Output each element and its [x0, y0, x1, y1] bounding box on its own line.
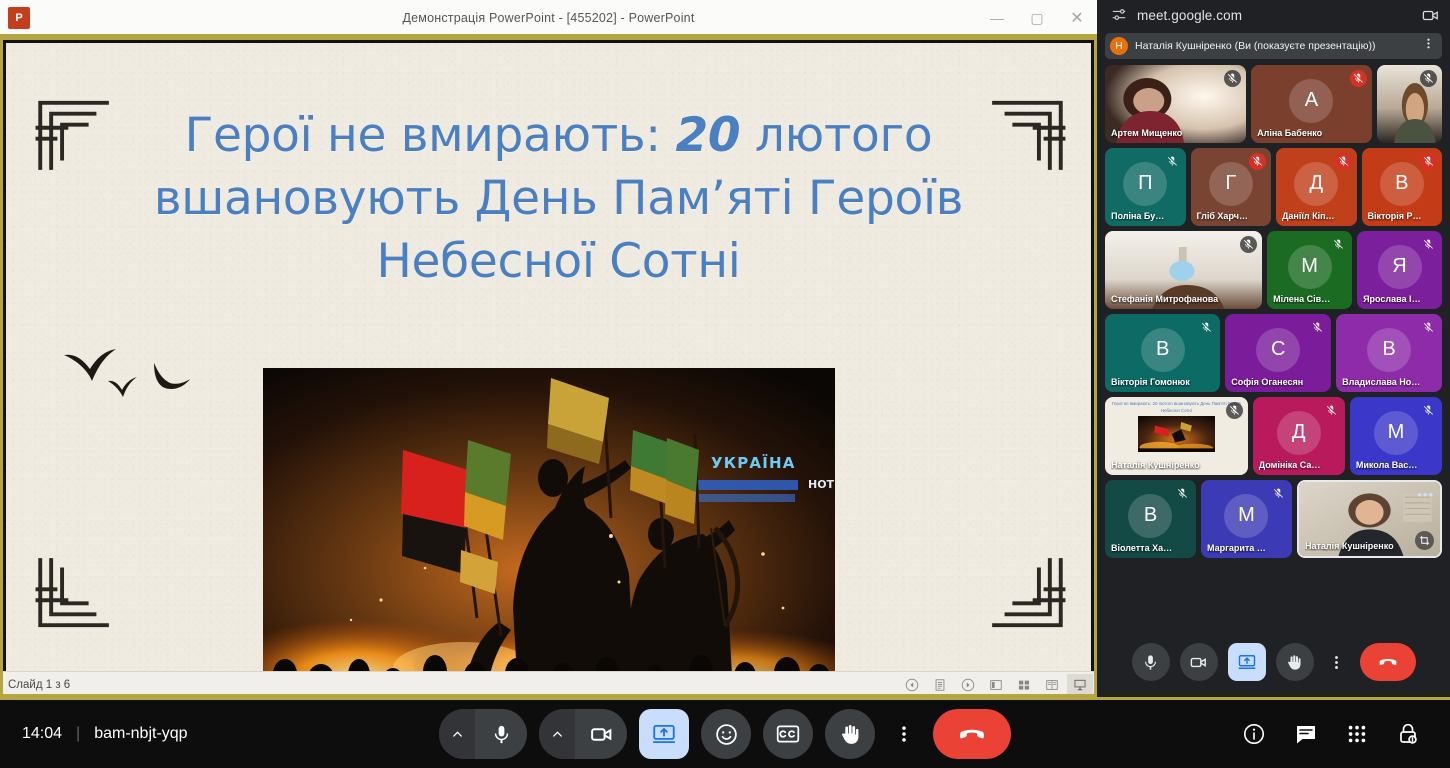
- presenter-status-row[interactable]: Н Наталія Кушніренко (Ви (показуєте през…: [1105, 33, 1442, 59]
- avatar: М: [1288, 245, 1332, 289]
- avatar: В: [1141, 328, 1185, 372]
- microphone-button[interactable]: [475, 709, 527, 759]
- clock: 14:04: [22, 725, 62, 743]
- participant-tile[interactable]: ВВікторія Р…: [1362, 148, 1443, 226]
- mic-off-icon: [1249, 153, 1266, 170]
- avatar: М: [1374, 411, 1418, 455]
- thumbnail-title: Герої не вмирають: 20 лютого вшановують …: [1110, 401, 1243, 414]
- slide-title-accent: 20: [675, 108, 740, 163]
- mic-off-icon: [1420, 70, 1437, 87]
- participant-tile[interactable]: ММілена Сівк…: [1267, 231, 1352, 309]
- meeting-details-button[interactable]: [1242, 722, 1266, 746]
- participant-name: Даніїл Кіп…: [1282, 211, 1337, 221]
- mic-off-icon: [1164, 153, 1181, 170]
- more-options-button[interactable]: [887, 709, 921, 759]
- participant-name: Гліб Харче…: [1197, 211, 1252, 221]
- slide-photo-maidan: УКРАЇНА HOTE: [263, 368, 835, 671]
- participant-tile[interactable]: ССофія Оганесян: [1225, 314, 1331, 392]
- slide-title-part2: вшановують День Пам’яті Героїв: [154, 171, 963, 226]
- slide-title-part1: Герої не вмирають:: [185, 108, 676, 163]
- participant-name: Домініка Савч…: [1259, 460, 1325, 470]
- powerpoint-logo-icon: P: [8, 7, 30, 29]
- meeting-info: 14:04 | bam-nbjt-yqp: [0, 725, 188, 743]
- participant-tile[interactable]: ММикола Васил…: [1350, 397, 1442, 475]
- avatar: А: [1289, 79, 1333, 123]
- mic-off-icon: [1335, 153, 1352, 170]
- close-button[interactable]: ✕: [1057, 0, 1097, 36]
- tile-row: Герої не вмирають: 20 лютого вшановують …: [1105, 397, 1442, 475]
- maximize-button[interactable]: ▢: [1017, 0, 1057, 36]
- participant-tile[interactable]: [1377, 65, 1442, 143]
- avatar: В: [1380, 162, 1424, 206]
- camera-button[interactable]: [575, 709, 627, 759]
- participant-tile[interactable]: Стефанія Митрофанова: [1105, 231, 1262, 309]
- avatar: Я: [1378, 245, 1422, 289]
- mic-off-icon: [1420, 319, 1437, 336]
- tile-row: Артем МищенкоААліна Бабенко: [1105, 65, 1442, 143]
- corner-ornament-icon: [34, 555, 112, 633]
- avatar: Д: [1277, 411, 1321, 455]
- mic-off-icon: [1174, 485, 1191, 502]
- previous-slide-button[interactable]: [899, 674, 925, 696]
- avatar: Д: [1294, 162, 1338, 206]
- participant-name: Вікторія Гомонюк: [1111, 377, 1200, 387]
- microphone-button[interactable]: [1132, 643, 1170, 681]
- microphone-options-chevron-icon[interactable]: [439, 709, 475, 759]
- slide-counter: Слайд 1 з 6: [8, 679, 70, 691]
- participant-tiles: Артем МищенкоААліна БабенкоППоліна Буг…Г…: [1097, 65, 1450, 558]
- tile-options-icon[interactable]: •••: [1417, 488, 1434, 501]
- slide-canvas: Герої не вмирають: 20 лютого вшановують …: [6, 43, 1091, 671]
- participant-tile[interactable]: ВВладислава Нові…: [1336, 314, 1442, 392]
- chat-button[interactable]: [1294, 722, 1318, 746]
- thumbnail-photo: [1138, 416, 1215, 452]
- normal-view-button[interactable]: [983, 674, 1009, 696]
- participant-name: Віолетта Ха…: [1111, 543, 1176, 553]
- corner-ornament-icon: [34, 95, 112, 173]
- participant-tile[interactable]: ГГліб Харче…: [1191, 148, 1272, 226]
- mic-off-icon: [1240, 236, 1257, 253]
- participant-tile[interactable]: ППоліна Буг…: [1105, 148, 1186, 226]
- participant-tile[interactable]: ДДаніїл Кіп…: [1276, 148, 1357, 226]
- corner-ornament-icon: [989, 555, 1067, 633]
- google-meet-panel: meet.google.com Н Наталія Кушніренко (Ви…: [1097, 0, 1450, 697]
- participant-tile[interactable]: ВВікторія Гомонюк: [1105, 314, 1220, 392]
- end-call-button[interactable]: [933, 709, 1011, 759]
- participant-tile[interactable]: Герої не вмирають: 20 лютого вшановують …: [1105, 397, 1248, 475]
- mic-off-icon: [1226, 402, 1243, 419]
- participant-tile[interactable]: ММаргарита …: [1201, 480, 1292, 558]
- participant-name: Софія Оганесян: [1231, 377, 1311, 387]
- participant-tile[interactable]: Артем Мищенко: [1105, 65, 1246, 143]
- slide-show-area[interactable]: Герої не вмирають: 20 лютого вшановують …: [0, 37, 1097, 671]
- reading-view-button[interactable]: [1039, 674, 1065, 696]
- participant-name: Артем Мищенко: [1111, 128, 1226, 138]
- slideshow-view-button[interactable]: [1067, 674, 1093, 696]
- avatar: Н: [1110, 37, 1128, 55]
- participant-tile[interactable]: ЯЯрослава Ів…: [1357, 231, 1442, 309]
- tile-row: ВВіолетта Ха…ММаргарита …•••Наталія Кушн…: [1105, 480, 1442, 558]
- mic-off-icon: [1420, 153, 1437, 170]
- tune-icon: [1111, 7, 1127, 23]
- meet-bottom-bar: 14:04 | bam-nbjt-yqp: [0, 697, 1450, 768]
- tile-row: ВВікторія ГомонюкССофія ОганесянВВладисл…: [1105, 314, 1442, 392]
- notes-button[interactable]: [927, 674, 953, 696]
- mic-off-icon: [1323, 402, 1340, 419]
- avatar: Г: [1209, 162, 1253, 206]
- svg-text:HOTE: HOTE: [808, 478, 835, 491]
- activities-button[interactable]: [1346, 723, 1368, 745]
- window-title: Демонстрація PowerPoint - [455202] - Pow…: [0, 11, 1097, 25]
- slide-title: Герої не вмирають: 20 лютого вшановують …: [116, 105, 1001, 294]
- end-call-button[interactable]: [1360, 643, 1416, 681]
- avatar: С: [1256, 328, 1300, 372]
- microphone-control-group[interactable]: [439, 709, 527, 759]
- svg-text:УКРАЇНА: УКРАЇНА: [711, 453, 796, 472]
- mic-off-icon: [1270, 485, 1287, 502]
- avatar: В: [1367, 328, 1411, 372]
- avatar: П: [1123, 162, 1167, 206]
- meeting-code[interactable]: bam-nbjt-yqp: [94, 725, 187, 743]
- meet-url-bar: meet.google.com: [1097, 0, 1450, 30]
- participant-name: Наталія Кушніренко: [1305, 541, 1420, 551]
- status-bar-buttons: [899, 674, 1093, 696]
- participant-name: Поліна Буг…: [1111, 211, 1166, 221]
- participant-name: Наталія Кушніренко: [1111, 460, 1228, 470]
- host-controls-button[interactable]: [1396, 722, 1420, 746]
- participant-tile[interactable]: ДДомініка Савч…: [1253, 397, 1345, 475]
- captions-button[interactable]: [763, 709, 813, 759]
- participant-name: Микола Васил…: [1356, 460, 1422, 470]
- next-slide-button[interactable]: [955, 674, 981, 696]
- mic-off-icon: [1330, 236, 1347, 253]
- emoji-button[interactable]: [701, 709, 751, 759]
- meet-right-controls: [1242, 722, 1450, 746]
- participant-name: Маргарита …: [1207, 543, 1272, 553]
- slide-title-part1-end: лютого: [740, 108, 932, 163]
- camera-options-chevron-icon[interactable]: [539, 709, 575, 759]
- raise-hand-button[interactable]: [1276, 643, 1314, 681]
- tile-row: ППоліна Буг…ГГліб Харче…ДДаніїл Кіп…ВВік…: [1105, 148, 1442, 226]
- participant-name: Владислава Нові…: [1342, 377, 1422, 387]
- camera-button[interactable]: [1180, 643, 1218, 681]
- participant-tile[interactable]: ВВіолетта Ха…: [1105, 480, 1196, 558]
- participant-name: Стефанія Митрофанова: [1111, 294, 1242, 304]
- slide-sorter-button[interactable]: [1011, 674, 1037, 696]
- presenter-label: Наталія Кушніренко (Ви (показуєте презен…: [1135, 40, 1375, 52]
- meet-panel-controls: [1097, 627, 1450, 697]
- meet-url-text[interactable]: meet.google.com: [1137, 8, 1242, 23]
- mic-off-icon: [1309, 319, 1326, 336]
- slide-title-part3: Небесної Сотні: [376, 234, 740, 289]
- camera-icon[interactable]: [1421, 6, 1440, 25]
- separator: |: [76, 725, 80, 743]
- powerpoint-window: P Демонстрація PowerPoint - [455202] - P…: [0, 0, 1097, 697]
- powerpoint-titlebar: P Демонстрація PowerPoint - [455202] - P…: [0, 0, 1097, 37]
- mic-off-icon: [1420, 402, 1437, 419]
- tile-row: Стефанія МитрофановаММілена Сівк…ЯЯросла…: [1105, 231, 1442, 309]
- minimize-button[interactable]: —: [977, 0, 1017, 36]
- meet-main-controls: [439, 709, 1011, 759]
- avatar: М: [1224, 494, 1268, 538]
- mic-off-icon: [1420, 236, 1437, 253]
- present-button[interactable]: [639, 709, 689, 759]
- participant-name: Аліна Бабенко: [1257, 128, 1351, 138]
- camera-control-group[interactable]: [539, 709, 627, 759]
- present-button[interactable]: [1228, 643, 1266, 681]
- birds-decoration-icon: [58, 343, 198, 413]
- participant-name: Ярослава Ів…: [1363, 294, 1422, 304]
- more-options-button[interactable]: [1324, 643, 1350, 681]
- participant-tile[interactable]: ААліна Бабенко: [1251, 65, 1371, 143]
- avatar: В: [1128, 494, 1172, 538]
- participant-name: Вікторія Р…: [1368, 211, 1423, 221]
- mic-off-icon: [1198, 319, 1215, 336]
- participant-name: Мілена Сівк…: [1273, 294, 1332, 304]
- participant-tile[interactable]: •••Наталія Кушніренко: [1297, 480, 1442, 558]
- window-controls: — ▢ ✕: [977, 0, 1097, 36]
- powerpoint-status-bar: Слайд 1 з 6: [0, 671, 1097, 697]
- mic-off-icon: [1350, 70, 1367, 87]
- raise-hand-button[interactable]: [825, 709, 875, 759]
- more-vert-icon[interactable]: [1422, 37, 1438, 55]
- mic-off-icon: [1224, 70, 1241, 87]
